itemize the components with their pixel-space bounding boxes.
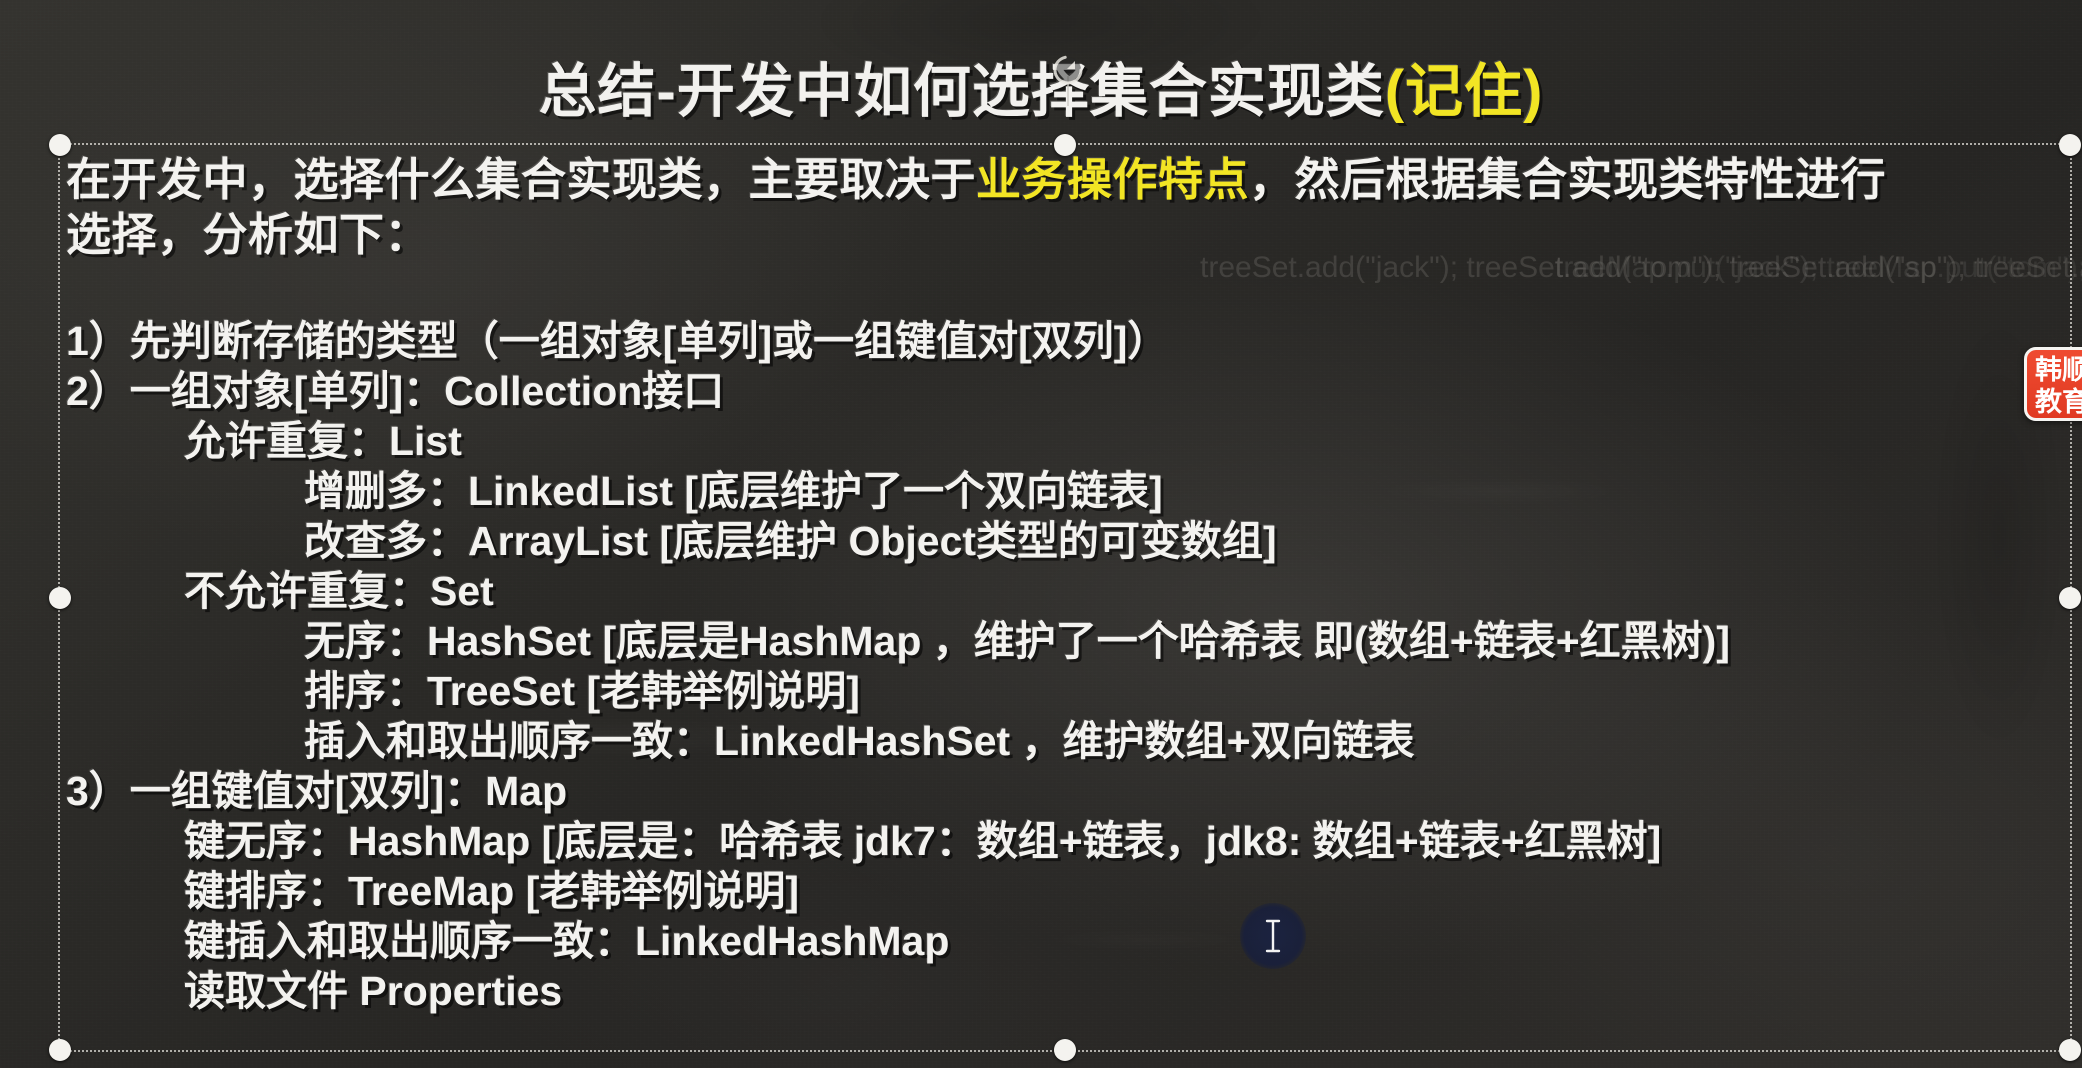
presentation-slide: treeSet.add("jack"); treeSet.add("tom");… <box>0 0 2082 1068</box>
slide-title-main: 总结-开发中如何选择集合实现类 <box>539 59 1385 124</box>
resize-handle-middle-right[interactable] <box>2059 587 2081 609</box>
slide-title-highlight: (记住) <box>1385 59 1544 124</box>
selection-bounding-box[interactable] <box>58 143 2072 1052</box>
mouse-cursor-ibeam <box>1240 903 1306 969</box>
slide-title: 总结-开发中如何选择集合实现类(记住) <box>0 44 2082 128</box>
resize-handle-bottom-center[interactable] <box>1054 1039 1076 1061</box>
resize-handle-middle-left[interactable] <box>49 587 71 609</box>
resize-handle-top-center[interactable] <box>1054 134 1076 156</box>
resize-handle-bottom-left[interactable] <box>49 1039 71 1061</box>
rotate-icon[interactable] <box>1050 52 1086 88</box>
resize-handle-top-left[interactable] <box>49 134 71 156</box>
resize-handle-bottom-right[interactable] <box>2059 1039 2081 1061</box>
course-logo-badge: 韩顺平教育 <box>2024 347 2082 421</box>
resize-handle-top-right[interactable] <box>2059 134 2081 156</box>
